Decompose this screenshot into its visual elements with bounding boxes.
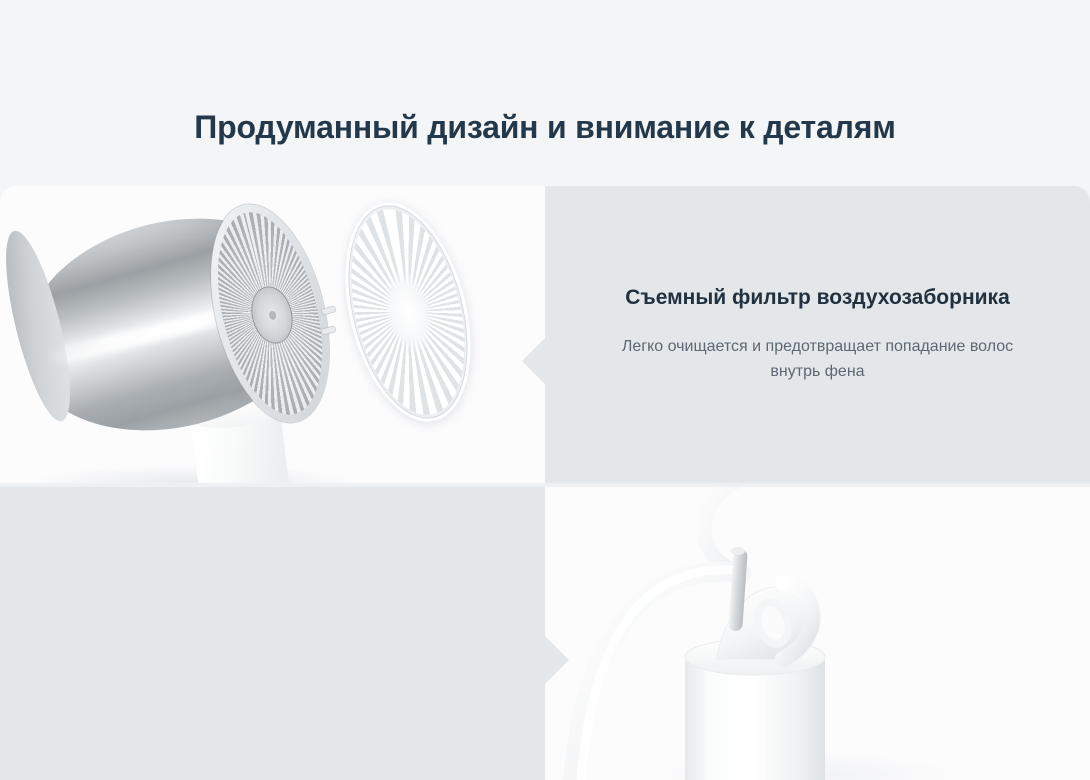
hook-illustration	[545, 487, 1090, 780]
filter-caption: Съемный фильтр воздухозаборника Легко оч…	[545, 283, 1090, 384]
dryer-ground-shadow	[30, 465, 360, 483]
filter-caption-title: Съемный фильтр воздухозаборника	[605, 283, 1030, 312]
page-title: Продуманный дизайн и внимание к деталям	[0, 107, 1090, 147]
panel-image-filter	[0, 186, 545, 483]
panel-image-hook	[545, 487, 1090, 780]
hook-panel-pointer	[545, 636, 569, 684]
filter-panel-pointer	[522, 337, 546, 385]
hair-dryer-illustration	[0, 186, 545, 483]
feature-panel-grid: Съемный фильтр воздухозаборника Легко оч…	[0, 186, 1090, 780]
hook-peg-tip	[731, 547, 745, 555]
removable-filter-cover-ring	[325, 189, 492, 434]
filter-caption-body: Легко очищается и предотвращает попадани…	[605, 334, 1030, 384]
panel-text-filter: Съемный фильтр воздухозаборника Легко оч…	[545, 186, 1090, 483]
hook-illustration-svg	[545, 487, 1090, 780]
panel-text-hook: Крючок Предназначен для удобного хранени…	[0, 487, 545, 780]
